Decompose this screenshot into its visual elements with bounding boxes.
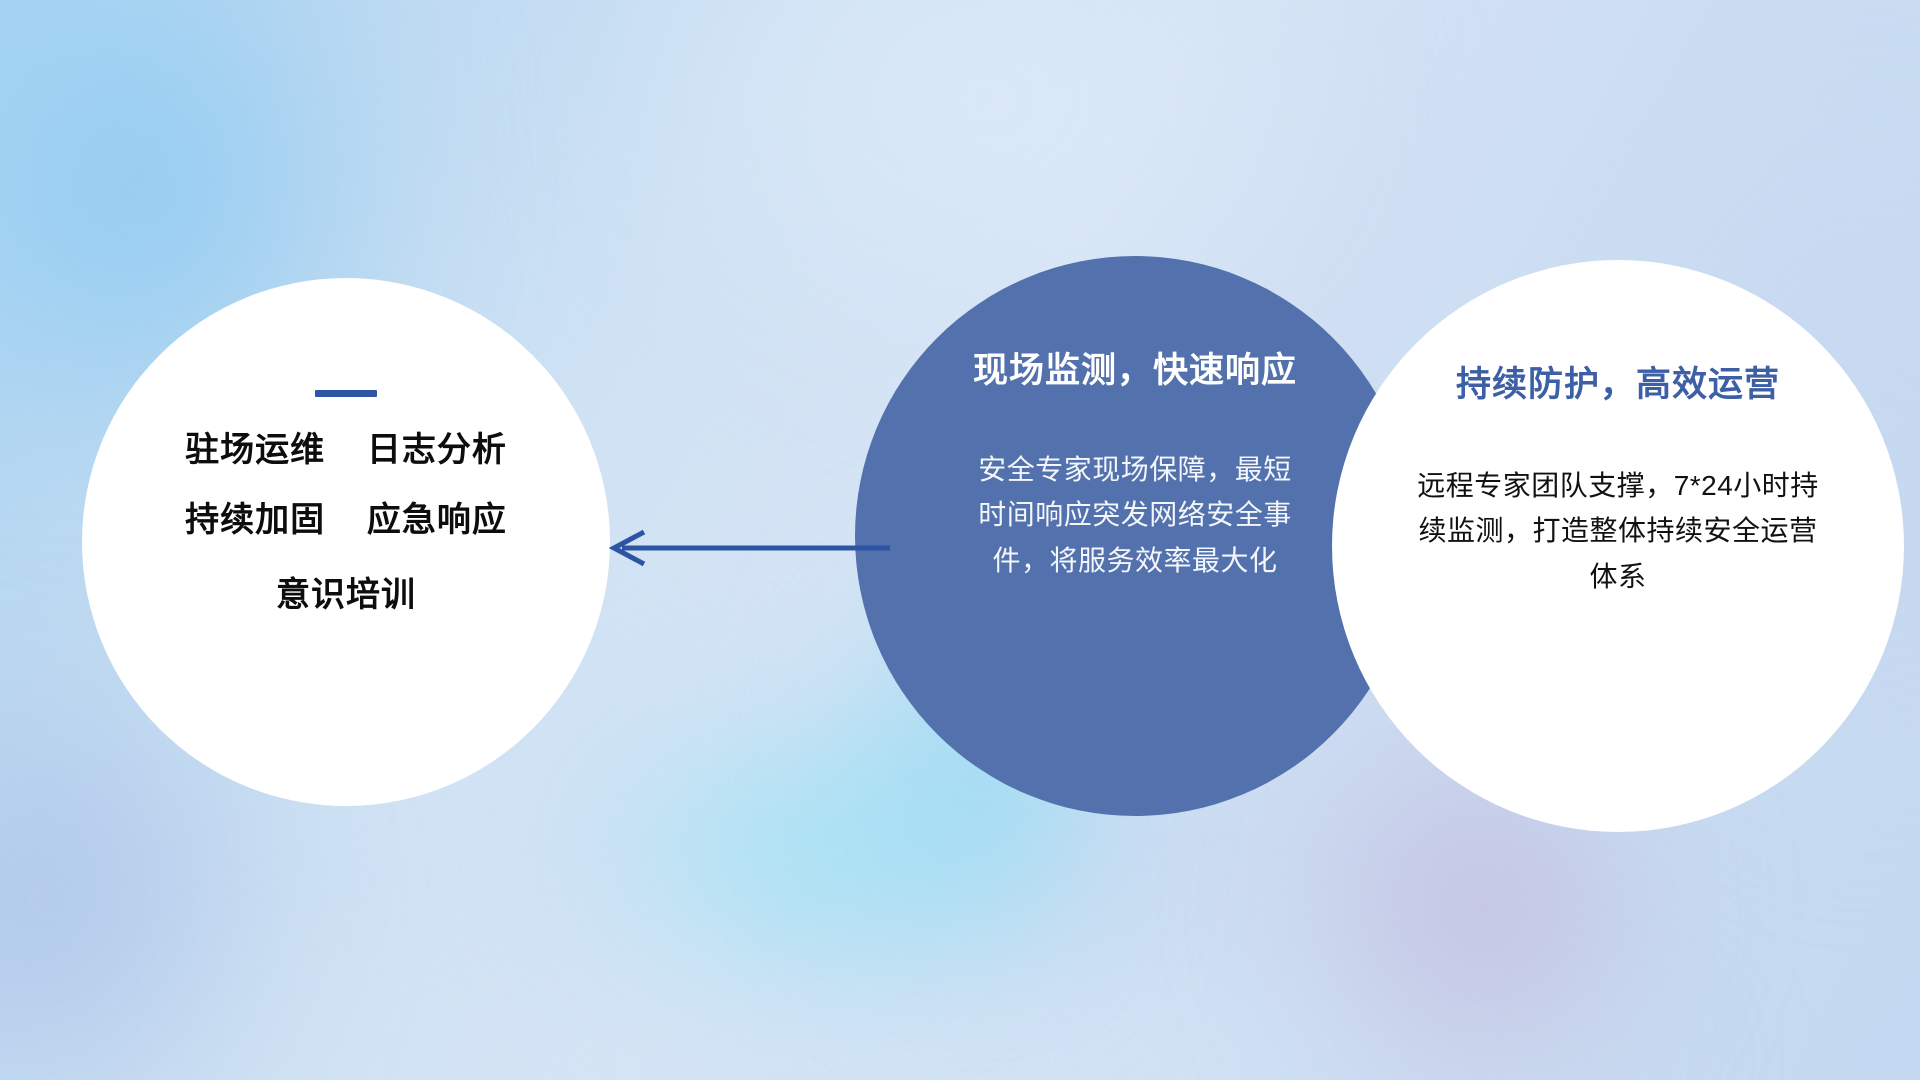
onsite-monitoring-title: 现场监测，快速响应 xyxy=(973,342,1297,393)
capability-line-1: 驻场运维 日志分析 xyxy=(185,433,507,469)
capability-line-2: 持续加固 应急响应 xyxy=(185,503,507,539)
onsite-monitoring-circle: 现场监测，快速响应 安全专家现场保障，最短时间响应突发网络安全事件，将服务效率最… xyxy=(855,256,1415,816)
onsite-monitoring-body: 安全专家现场保障，最短时间响应突发网络安全事件，将服务效率最大化 xyxy=(970,447,1300,583)
horizontal-dash-icon xyxy=(315,390,377,397)
capability-line-3: 意识培训 xyxy=(276,578,416,614)
service-capabilities-circle: 驻场运维 日志分析 持续加固 应急响应 意识培训 xyxy=(82,278,610,806)
continuous-protection-title: 持续防护，高效运营 xyxy=(1456,356,1780,407)
arrow-left-icon xyxy=(600,520,890,576)
continuous-protection-body: 远程专家团队支撑，7*24小时持续监测，打造整体持续安全运营体系 xyxy=(1408,463,1828,599)
continuous-protection-circle: 持续防护，高效运营 远程专家团队支撑，7*24小时持续监测，打造整体持续安全运营… xyxy=(1332,260,1904,832)
